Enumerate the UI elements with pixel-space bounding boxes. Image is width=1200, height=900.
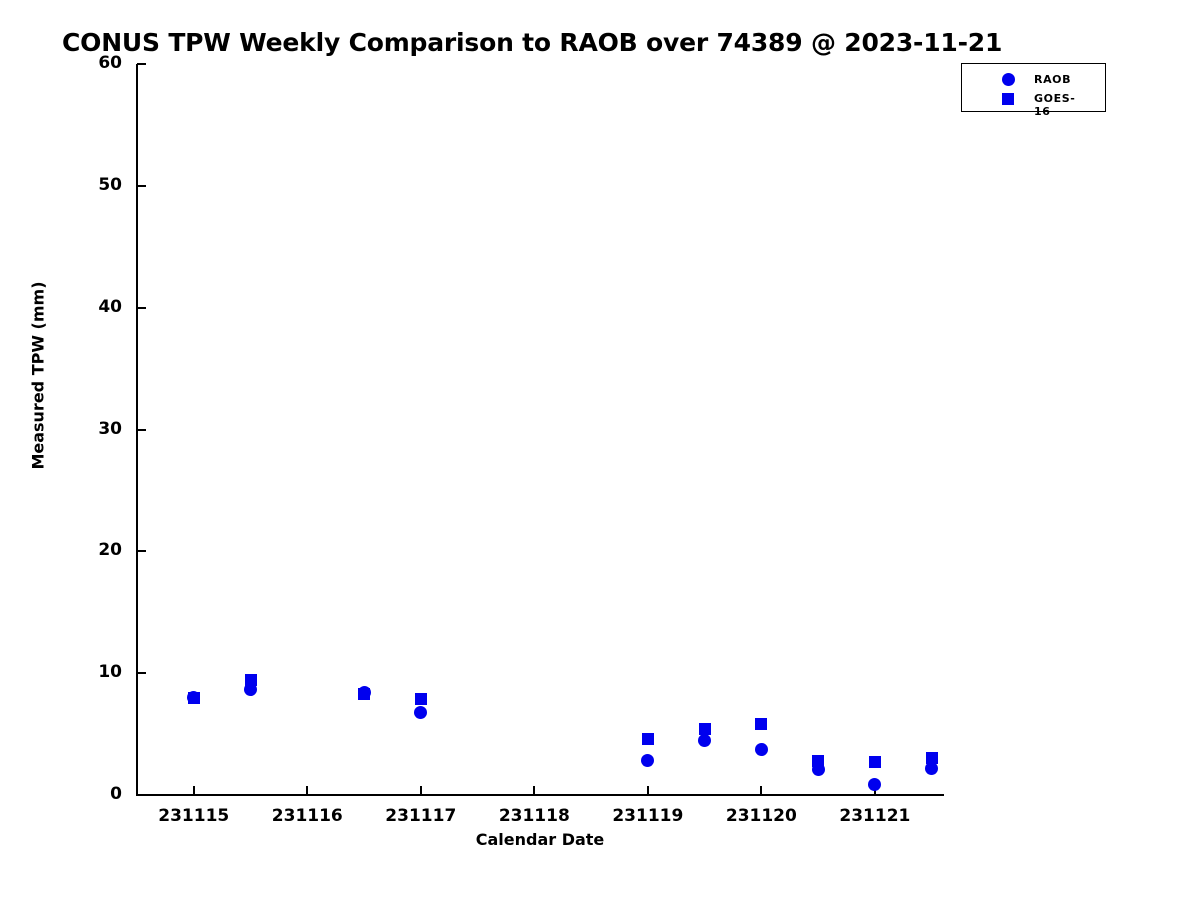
data-point-raob bbox=[358, 686, 371, 699]
data-point-raob bbox=[244, 683, 257, 696]
legend-marker-circle-icon bbox=[1002, 73, 1015, 86]
chart-figure: CONUS TPW Weekly Comparison to RAOB over… bbox=[0, 0, 1200, 900]
data-point-goes-16 bbox=[869, 756, 881, 768]
legend-marker-square-icon bbox=[1002, 93, 1014, 105]
x-tick-label: 231119 bbox=[588, 806, 708, 826]
plot-area bbox=[137, 64, 943, 795]
data-point-goes-16 bbox=[415, 693, 427, 705]
data-point-raob bbox=[868, 778, 881, 791]
data-point-raob bbox=[641, 754, 654, 767]
data-point-raob bbox=[755, 743, 768, 756]
legend-label-raob: RAOB bbox=[1034, 73, 1071, 86]
x-tick-label: 231115 bbox=[134, 806, 254, 826]
y-tick-label: 30 bbox=[62, 419, 122, 439]
y-axis-label: Measured TPW (mm) bbox=[29, 96, 48, 656]
data-point-goes-16 bbox=[755, 718, 767, 730]
x-tick-label: 231121 bbox=[815, 806, 935, 826]
chart-title: CONUS TPW Weekly Comparison to RAOB over… bbox=[62, 28, 1002, 57]
y-tick-label: 40 bbox=[62, 297, 122, 317]
y-tick-label: 0 bbox=[62, 784, 122, 804]
data-point-raob bbox=[925, 762, 938, 775]
y-tick-label: 20 bbox=[62, 540, 122, 560]
x-tick-label: 231120 bbox=[701, 806, 821, 826]
data-point-raob bbox=[414, 706, 427, 719]
chart-legend: RAOB GOES-16 bbox=[961, 63, 1106, 112]
y-tick-label: 50 bbox=[62, 175, 122, 195]
x-axis-label: Calendar Date bbox=[137, 830, 943, 849]
y-tick-label: 10 bbox=[62, 662, 122, 682]
x-tick-label: 231116 bbox=[247, 806, 367, 826]
data-point-goes-16 bbox=[642, 733, 654, 745]
y-tick-label: 60 bbox=[62, 53, 122, 73]
x-tick-label: 231118 bbox=[474, 806, 594, 826]
data-point-raob bbox=[698, 734, 711, 747]
data-point-raob bbox=[812, 763, 825, 776]
x-tick-label: 231117 bbox=[361, 806, 481, 826]
legend-label-goes16: GOES-16 bbox=[1034, 92, 1075, 118]
